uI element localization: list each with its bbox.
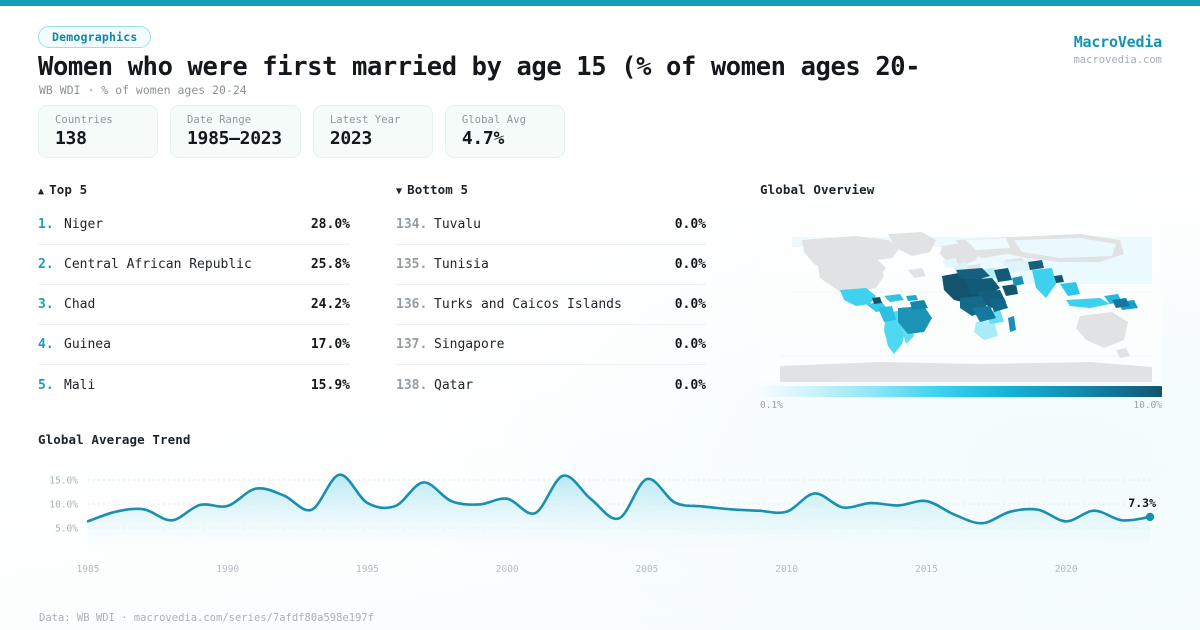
category-badge-label: Demographics bbox=[52, 30, 137, 44]
legend-max-label: 10.0% bbox=[1133, 400, 1162, 411]
stat-card-global-avg: Global Avg 4.7% bbox=[445, 105, 565, 158]
rank-number: 138. bbox=[396, 378, 434, 393]
svg-text:2005: 2005 bbox=[636, 564, 659, 575]
list-item[interactable]: 136. Turks and Caicos Islands 0.0% bbox=[396, 285, 706, 325]
stat-value: 2023 bbox=[330, 128, 414, 149]
svg-text:1995: 1995 bbox=[356, 564, 379, 575]
stat-value: 138 bbox=[55, 128, 139, 149]
rank-value: 17.0% bbox=[311, 337, 350, 352]
stat-label: Countries bbox=[55, 114, 139, 126]
legend-gradient-bar bbox=[760, 386, 1162, 397]
stat-card-row: Countries 138 Date Range 1985–2023 Lates… bbox=[38, 105, 565, 158]
trend-heading: Global Average Trend bbox=[38, 432, 191, 447]
page-title: Women who were first married by age 15 (… bbox=[38, 52, 920, 82]
rank-name: Qatar bbox=[434, 378, 675, 393]
accent-topbar bbox=[0, 0, 1200, 6]
svg-text:15.0%: 15.0% bbox=[49, 476, 78, 487]
global-average-trend-chart: 5.0%10.0%15.0% 7.3% 19851990199520002005… bbox=[38, 452, 1162, 580]
svg-text:1985: 1985 bbox=[77, 564, 100, 575]
trend-end-label: 7.3% bbox=[1128, 496, 1156, 510]
top5-heading-label: Top 5 bbox=[49, 182, 87, 197]
rank-name: Guinea bbox=[64, 337, 311, 352]
footer-source-text: Data: WB WDI · macrovedia.com/series/7af… bbox=[39, 612, 374, 624]
stat-label: Date Range bbox=[187, 114, 282, 126]
list-item[interactable]: 5. Mali 15.9% bbox=[38, 365, 350, 405]
rank-value: 15.9% bbox=[311, 378, 350, 393]
rank-value: 0.0% bbox=[675, 257, 706, 272]
map-svg bbox=[760, 204, 1162, 382]
brand-block: MacroVedia macrovedia.com bbox=[1073, 33, 1162, 66]
rank-value: 0.0% bbox=[675, 337, 706, 352]
caret-down-icon: ▼ bbox=[396, 186, 402, 197]
list-item[interactable]: 137. Singapore 0.0% bbox=[396, 325, 706, 365]
infographic-card: Demographics Women who were first marrie… bbox=[0, 0, 1200, 630]
svg-text:5.0%: 5.0% bbox=[55, 524, 78, 535]
rank-value: 0.0% bbox=[675, 378, 706, 393]
rank-name: Tuvalu bbox=[434, 217, 675, 232]
rank-value: 25.8% bbox=[311, 257, 350, 272]
rank-number: 4. bbox=[38, 337, 64, 352]
svg-text:2015: 2015 bbox=[915, 564, 938, 575]
svg-text:1990: 1990 bbox=[216, 564, 239, 575]
stat-label: Latest Year bbox=[330, 114, 414, 126]
list-item[interactable]: 1. Niger 28.0% bbox=[38, 205, 350, 245]
brand-url: macrovedia.com bbox=[1073, 54, 1162, 66]
svg-text:2010: 2010 bbox=[775, 564, 798, 575]
top5-heading: ▲Top 5 bbox=[38, 182, 87, 197]
stat-card-latest-year: Latest Year 2023 bbox=[313, 105, 433, 158]
stat-card-date-range: Date Range 1985–2023 bbox=[170, 105, 301, 158]
rank-value: 28.0% bbox=[311, 217, 350, 232]
rank-number: 134. bbox=[396, 217, 434, 232]
trend-svg: 5.0%10.0%15.0% 7.3% 19851990199520002005… bbox=[38, 452, 1162, 580]
rank-name: Mali bbox=[64, 378, 311, 393]
stat-label: Global Avg bbox=[462, 114, 546, 126]
list-item[interactable]: 2. Central African Republic 25.8% bbox=[38, 245, 350, 285]
stat-value: 4.7% bbox=[462, 128, 546, 149]
rank-number: 2. bbox=[38, 257, 64, 272]
rank-number: 135. bbox=[396, 257, 434, 272]
svg-text:10.0%: 10.0% bbox=[49, 500, 78, 511]
trend-end-point-marker bbox=[1146, 513, 1154, 521]
map-heading: Global Overview bbox=[760, 182, 874, 197]
list-item[interactable]: 4. Guinea 17.0% bbox=[38, 325, 350, 365]
list-item[interactable]: 135. Tunisia 0.0% bbox=[396, 245, 706, 285]
list-item[interactable]: 3. Chad 24.2% bbox=[38, 285, 350, 325]
rank-name: Tunisia bbox=[434, 257, 675, 272]
svg-text:2000: 2000 bbox=[496, 564, 519, 575]
rank-name: Central African Republic bbox=[64, 257, 311, 272]
page-subtitle: WB WDI · % of women ages 20-24 bbox=[39, 83, 247, 97]
bottom5-list: 134. Tuvalu 0.0% 135. Tunisia 0.0% 136. … bbox=[396, 205, 706, 405]
rank-value: 0.0% bbox=[675, 217, 706, 232]
map-color-legend: 0.1% 10.0% bbox=[760, 386, 1162, 411]
bottom5-heading-label: Bottom 5 bbox=[407, 182, 468, 197]
rank-number: 3. bbox=[38, 297, 64, 312]
top5-list: 1. Niger 28.0% 2. Central African Republ… bbox=[38, 205, 350, 405]
bottom5-heading: ▼Bottom 5 bbox=[396, 182, 468, 197]
world-choropleth-map bbox=[760, 204, 1162, 382]
trend-area-fill bbox=[88, 475, 1150, 552]
caret-up-icon: ▲ bbox=[38, 186, 44, 197]
rank-number: 1. bbox=[38, 217, 64, 232]
rank-number: 137. bbox=[396, 337, 434, 352]
rank-value: 24.2% bbox=[311, 297, 350, 312]
trend-x-axis-labels: 19851990199520002005201020152020 bbox=[77, 564, 1078, 575]
svg-text:2020: 2020 bbox=[1055, 564, 1078, 575]
rank-value: 0.0% bbox=[675, 297, 706, 312]
stat-value: 1985–2023 bbox=[187, 128, 282, 149]
legend-min-label: 0.1% bbox=[760, 400, 783, 411]
rank-name: Niger bbox=[64, 217, 311, 232]
rank-name: Singapore bbox=[434, 337, 675, 352]
rank-number: 136. bbox=[396, 297, 434, 312]
stat-card-countries: Countries 138 bbox=[38, 105, 158, 158]
rank-number: 5. bbox=[38, 378, 64, 393]
list-item[interactable]: 134. Tuvalu 0.0% bbox=[396, 205, 706, 245]
brand-name: MacroVedia bbox=[1073, 33, 1162, 51]
rank-name: Chad bbox=[64, 297, 311, 312]
trend-y-axis-labels: 5.0%10.0%15.0% bbox=[49, 476, 78, 535]
rank-name: Turks and Caicos Islands bbox=[434, 297, 675, 312]
list-item[interactable]: 138. Qatar 0.0% bbox=[396, 365, 706, 405]
category-badge[interactable]: Demographics bbox=[38, 26, 151, 48]
